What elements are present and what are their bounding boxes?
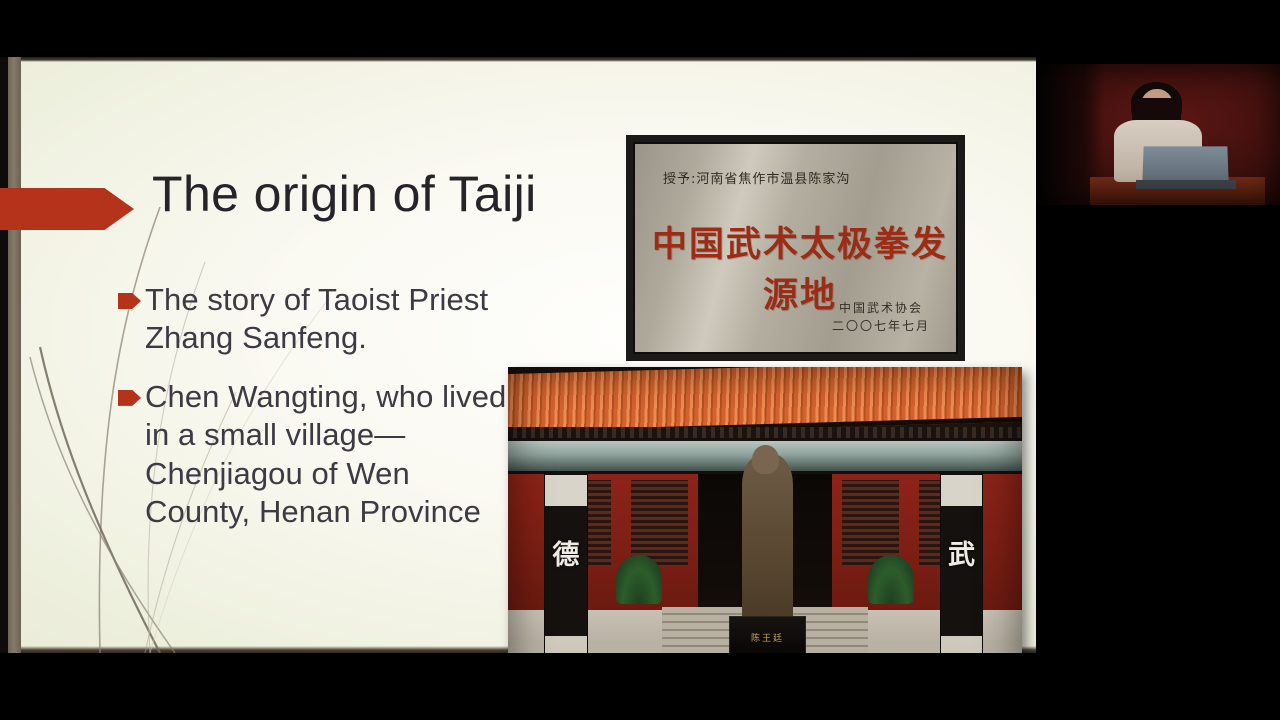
plaque-surface: 授予:河南省焦作市温县陈家沟 中国武术太极拳发源地 中国武术协会 二〇〇七年七月	[633, 142, 958, 354]
page-title: The origin of Taiji	[152, 165, 537, 223]
plaque-signature: 中国武术协会 二〇〇七年七月	[832, 299, 930, 336]
temple-photo: 陈王廷 德 武	[508, 367, 1022, 653]
video-vignette	[1036, 64, 1280, 205]
temple-photo-vignette	[508, 367, 1022, 653]
list-item-text: The story of Taoist Priest Zhang Sanfeng…	[145, 281, 518, 358]
plaque-photo: 授予:河南省焦作市温县陈家沟 中国武术太极拳发源地 中国武术协会 二〇〇七年七月	[626, 135, 965, 361]
title-accent-arrow	[0, 188, 134, 230]
slide-left-stripe	[8, 57, 21, 653]
bullet-list: The story of Taoist Priest Zhang Sanfeng…	[118, 281, 518, 552]
slide-left-edge	[0, 57, 8, 653]
plaque-issuer: 中国武术协会	[832, 299, 930, 318]
presenter-video-overlay[interactable]	[1036, 64, 1280, 205]
list-item: The story of Taoist Priest Zhang Sanfeng…	[118, 281, 518, 358]
plaque-date: 二〇〇七年七月	[832, 317, 930, 336]
presentation-slide: The origin of Taiji The story of Taoist …	[0, 57, 1036, 653]
plaque-caption-top: 授予:河南省焦作市温县陈家沟	[663, 168, 850, 187]
list-item: Chen Wangting, who lived in a small vill…	[118, 378, 518, 532]
arrow-bullet-icon	[118, 293, 141, 309]
list-item-text: Chen Wangting, who lived in a small vill…	[145, 378, 518, 532]
screen-root: The origin of Taiji The story of Taoist …	[0, 0, 1280, 720]
slide-top-shade	[0, 57, 1036, 62]
arrow-bullet-icon	[118, 390, 141, 406]
